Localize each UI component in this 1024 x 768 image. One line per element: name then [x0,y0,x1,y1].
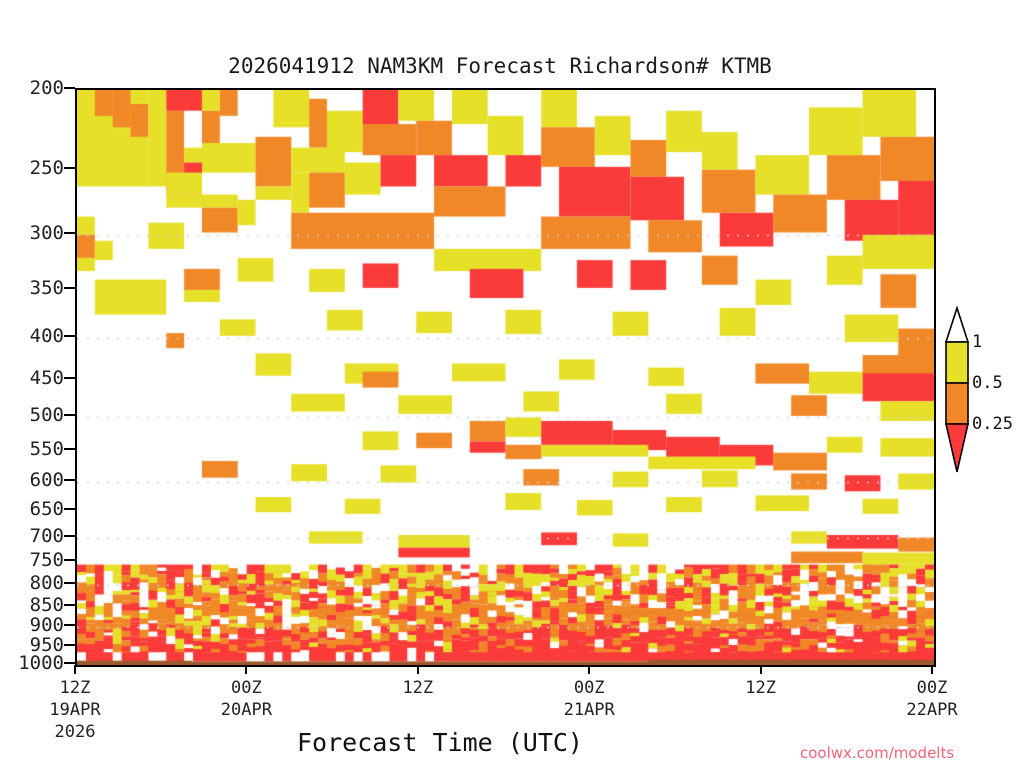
legend-colorbar: 10.50.25 [936,300,1024,480]
watermark: coolwx.com/modelts [800,744,1020,762]
x-axis-tick-mark [760,665,762,674]
colorbar-level-label: 1 [972,332,982,352]
x-axis-tick-label: 12Z [402,677,433,699]
x-axis-tick-mark [245,665,247,674]
chart-page: 2026041912 NAM3KM Forecast Richardson# K… [0,0,1024,768]
colorbar-level-label: 0.5 [972,373,1003,393]
x-axis-tick-mark [417,665,419,674]
x-axis: 12Z19APR202600Z20APR12Z00Z21APR12Z00Z22A… [0,0,1024,768]
x-axis-tick-line: 12Z [745,677,776,699]
x-axis-tick-mark [74,665,76,674]
x-axis-tick-line: 20APR [221,699,272,721]
x-axis-tick-line: 22APR [906,699,957,721]
x-axis-tick-line: 12Z [402,677,433,699]
x-axis-tick-line: 00Z [564,677,615,699]
x-axis-tick-line: 12Z [49,677,100,699]
x-axis-tick-label: 00Z22APR [906,677,957,721]
x-axis-tick-line: 19APR [49,699,100,721]
colorbar-band-yellow [946,342,968,383]
colorbar-band-above-1 [946,308,968,342]
x-axis-tick-line: 00Z [221,677,272,699]
colorbar-band-below-025 [946,424,968,472]
x-axis-tick-label: 12Z [745,677,776,699]
colorbar-level-label: 0.25 [972,414,1013,434]
x-axis-title: Forecast Time (UTC) [0,728,880,757]
x-axis-tick-mark [588,665,590,674]
x-axis-tick-label: 00Z20APR [221,677,272,721]
x-axis-tick-line: 21APR [564,699,615,721]
x-axis-tick-label: 00Z21APR [564,677,615,721]
x-axis-tick-mark [931,665,933,674]
x-axis-tick-line: 00Z [906,677,957,699]
colorbar-band-orange [946,383,968,424]
